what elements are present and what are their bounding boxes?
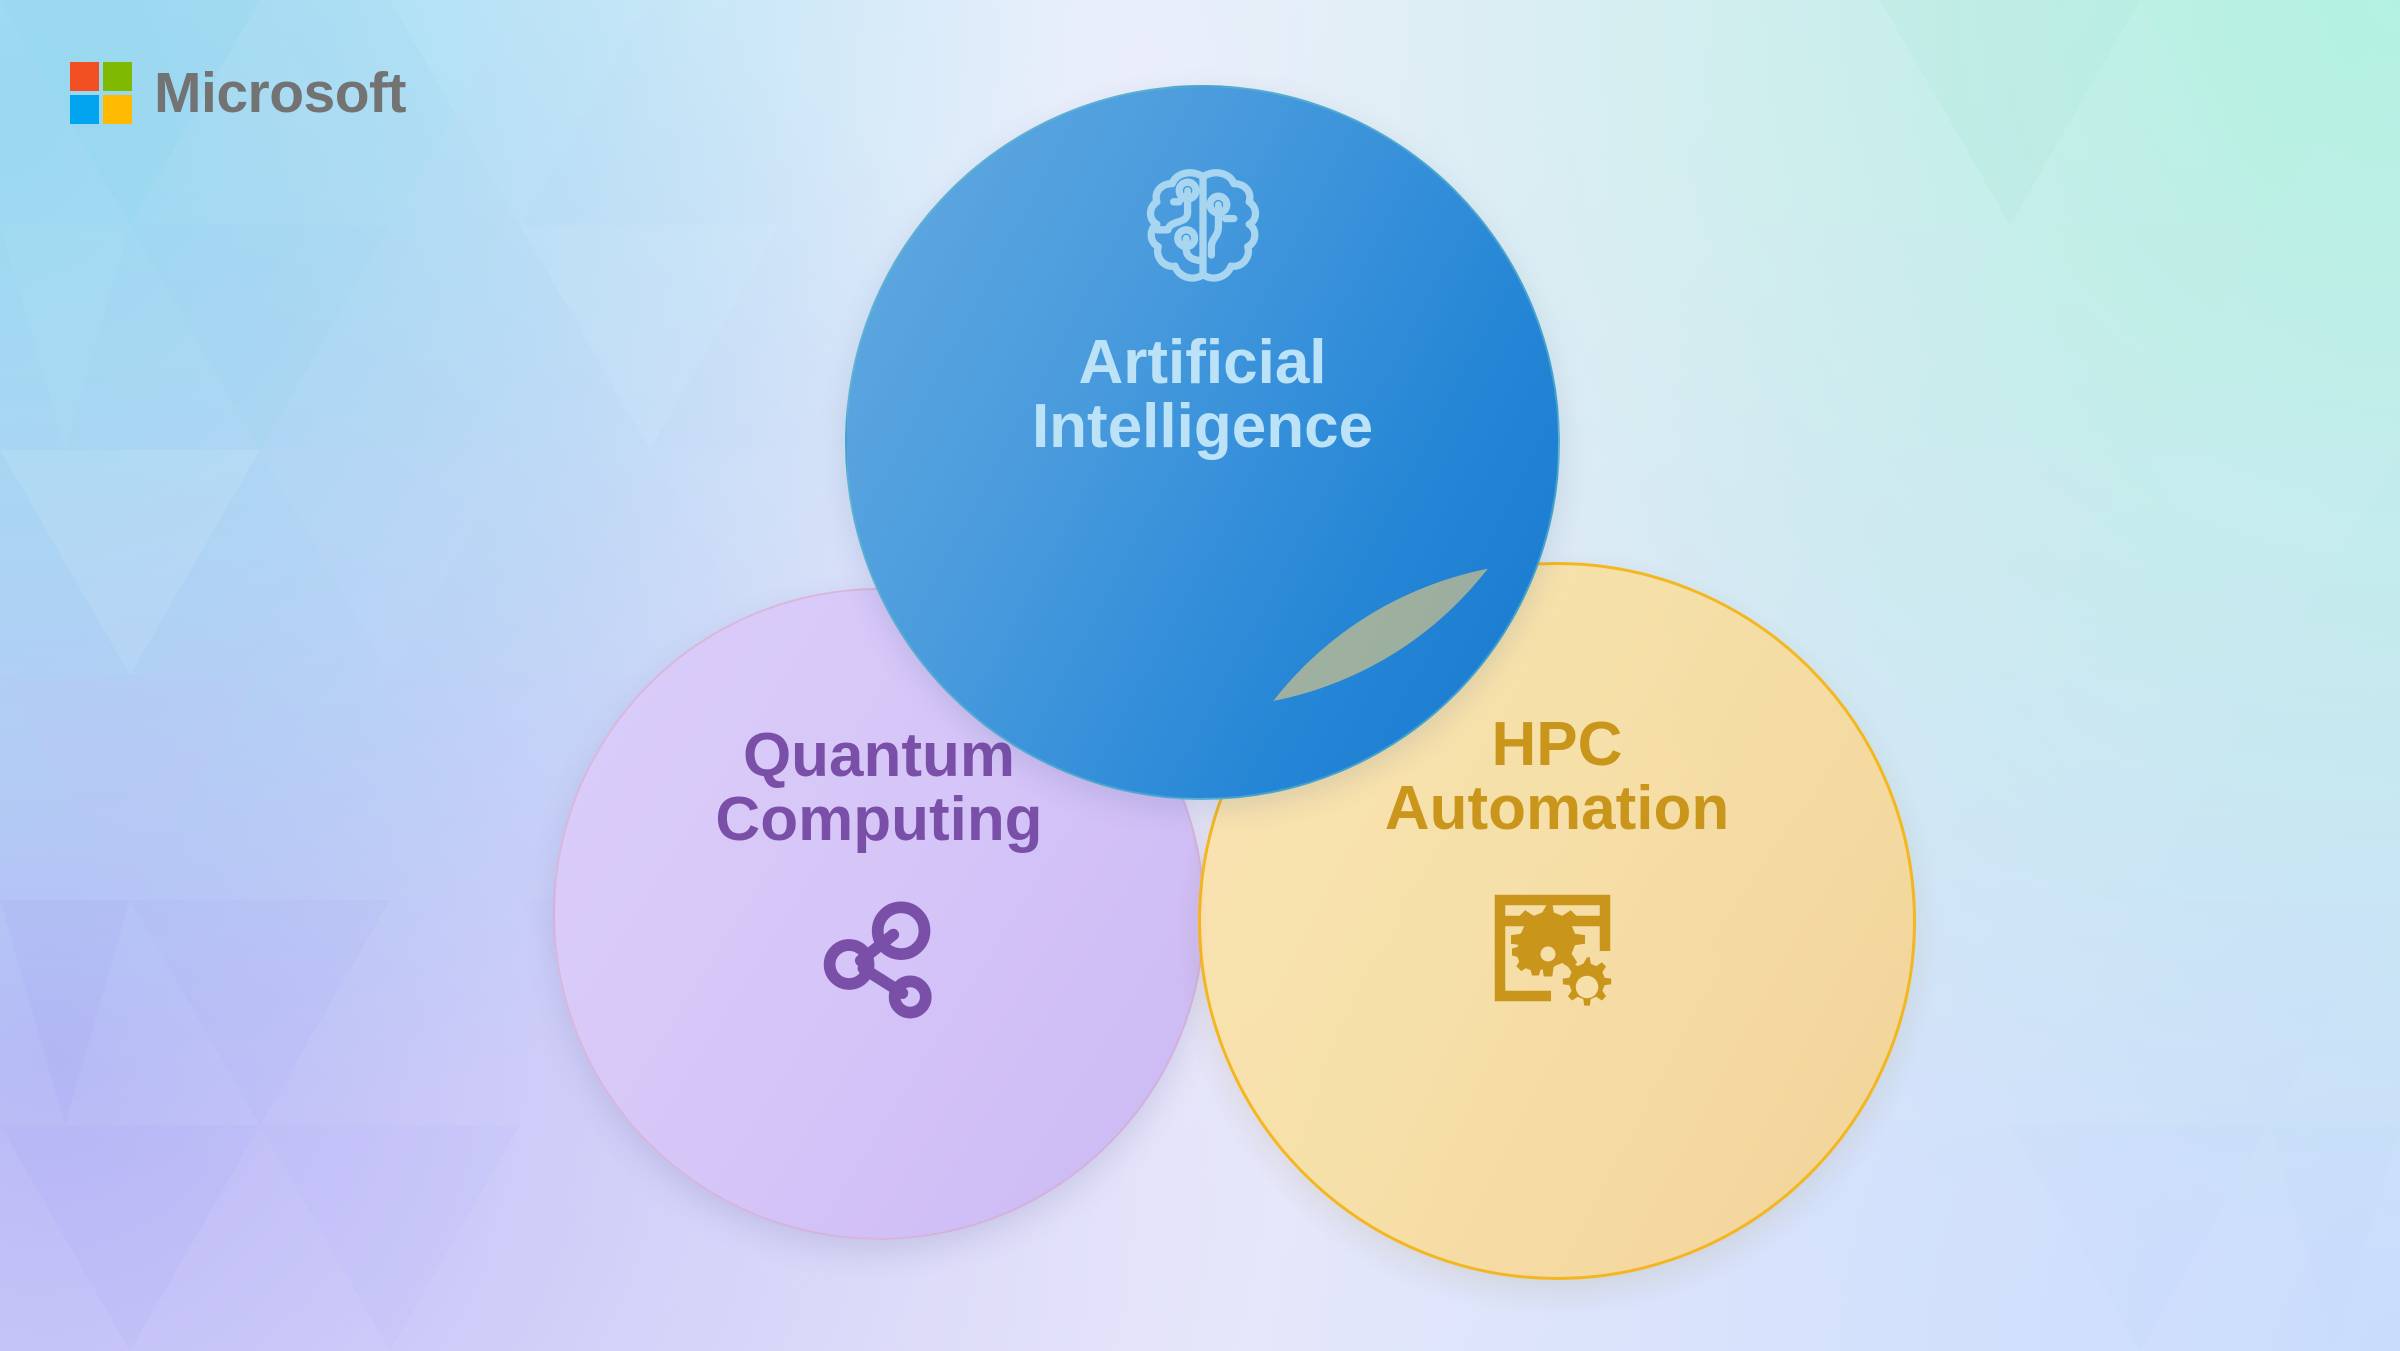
red-square-icon xyxy=(70,62,99,91)
window-gears-automation-icon xyxy=(1482,876,1632,1026)
brain-circuit-icon xyxy=(1133,157,1273,297)
microsoft-four-squares-logo-icon xyxy=(70,62,132,124)
blue-square-icon xyxy=(70,95,99,124)
microsoft-wordmark: Microsoft xyxy=(154,65,406,122)
venn-circle-artificial-intelligence[interactable]: Artificial Intelligence xyxy=(845,85,1560,800)
venn-label-artificial-intelligence: Artificial Intelligence xyxy=(1032,331,1373,460)
yellow-square-icon xyxy=(103,95,132,124)
node-graph-icon xyxy=(814,893,944,1023)
slide-canvas: Microsoft Quantum Computing HPC Automati xyxy=(0,0,2400,1351)
green-square-icon xyxy=(103,62,132,91)
microsoft-logo: Microsoft xyxy=(70,62,406,124)
